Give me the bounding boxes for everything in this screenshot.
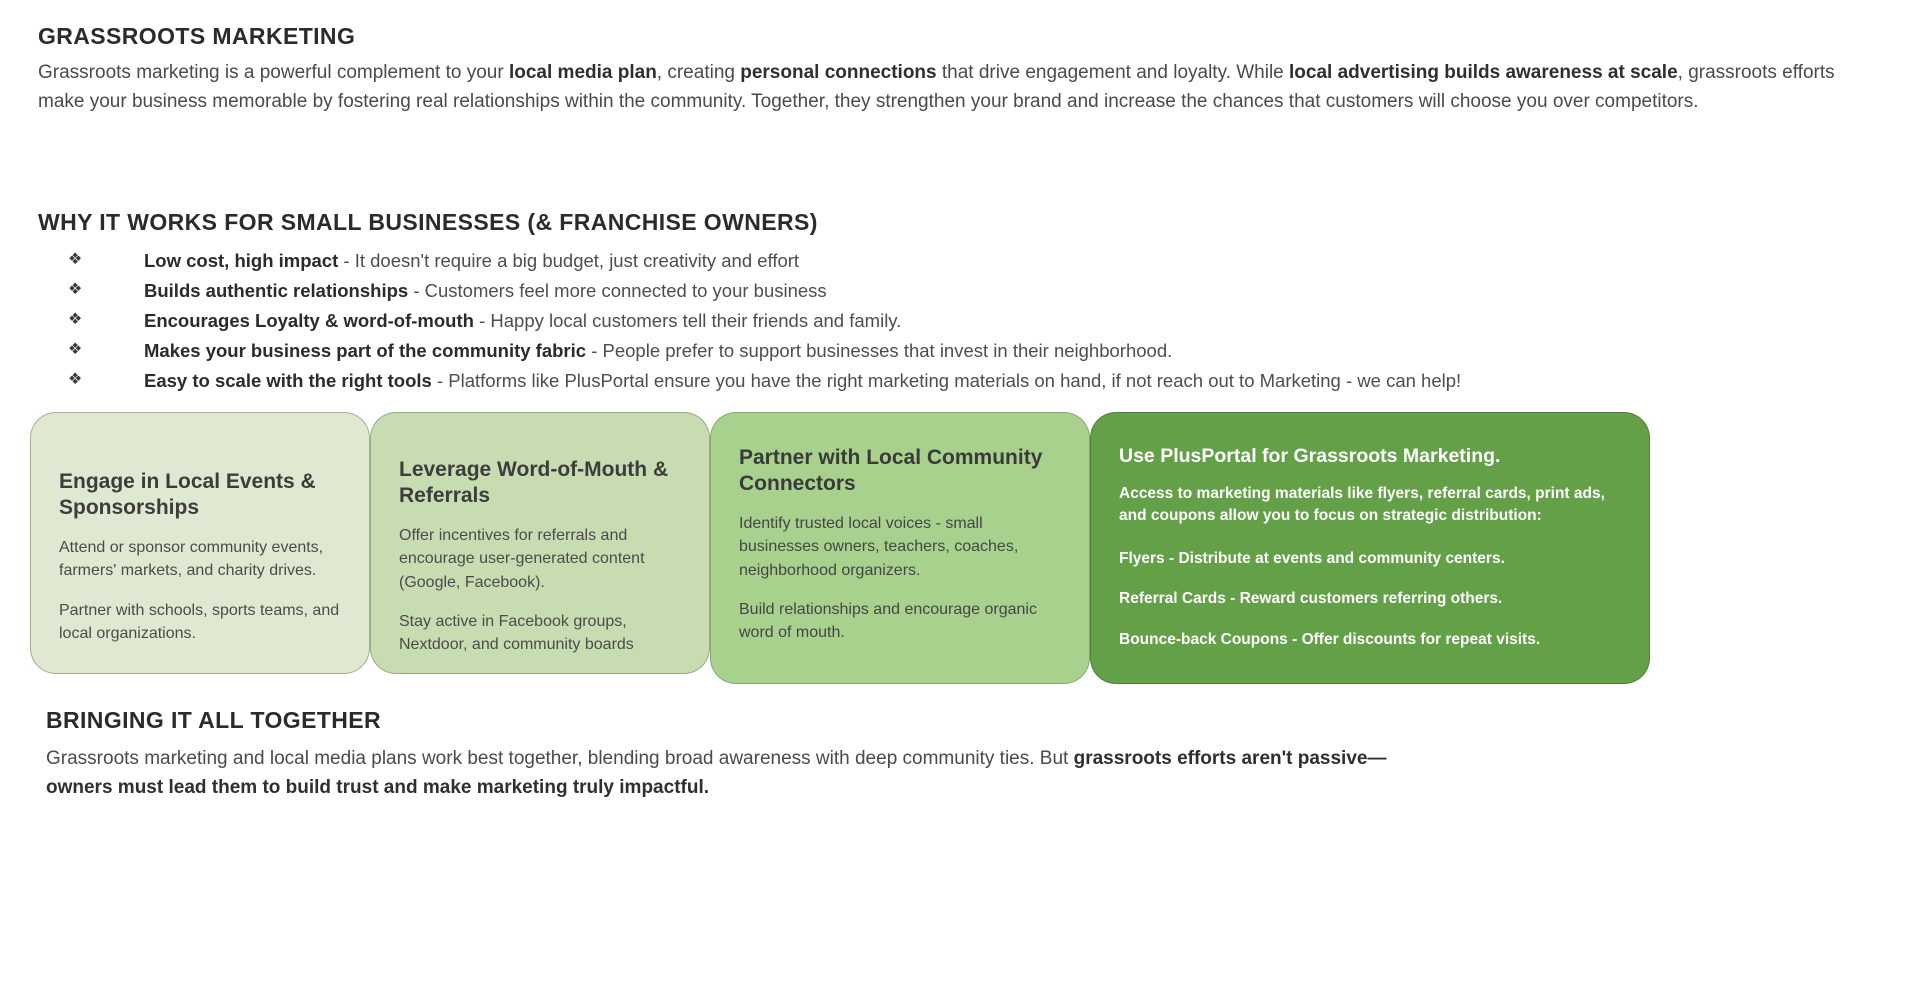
plain-text: Grassroots marketing and local media pla… xyxy=(46,748,1074,769)
diamond-bullet-icon: ❖ xyxy=(68,307,82,333)
bringing-it-together-paragraph: Grassroots marketing and local media pla… xyxy=(46,745,1446,803)
card-paragraph: Attend or sponsor community events, farm… xyxy=(59,536,341,582)
diamond-bullet-icon: ❖ xyxy=(68,277,82,303)
list-item: ❖Low cost, high impact - It doesn't requ… xyxy=(38,247,1848,275)
card-paragraph: Identify trusted local voices - small bu… xyxy=(739,512,1061,582)
card-use-plusportal[interactable]: Use PlusPortal for Grassroots Marketing.… xyxy=(1090,412,1650,684)
card-paragraph: Stay active in Facebook groups, Nextdoor… xyxy=(399,610,681,656)
card-paragraph: Offer incentives for referrals and encou… xyxy=(399,524,681,594)
card-item-bounce-back-coupons: Bounce-back Coupons - Offer discounts fo… xyxy=(1119,629,1621,651)
list-item-lead: Encourages Loyalty & word-of-mouth xyxy=(144,310,474,331)
emphasis-text: local advertising builds awareness at sc… xyxy=(1289,62,1678,83)
diamond-bullet-icon: ❖ xyxy=(68,367,82,393)
card-paragraph: Build relationships and encourage organi… xyxy=(739,598,1061,644)
card-title: Partner with Local Community Connectors xyxy=(739,439,1061,496)
emphasis-text: personal connections xyxy=(740,62,936,83)
card-title: Engage in Local Events & Sponsorships xyxy=(59,439,341,520)
bringing-it-together-heading: BRINGING IT ALL TOGETHER xyxy=(46,706,1806,735)
list-item: ❖Makes your business part of the communi… xyxy=(38,337,1848,365)
card-lead-text: Access to marketing materials like flyer… xyxy=(1119,483,1621,528)
list-item-detail: - Customers feel more connected to your … xyxy=(408,280,827,301)
card-paragraph: Partner with schools, sports teams, and … xyxy=(59,599,341,645)
list-item-detail: - It doesn't require a big budget, just … xyxy=(338,250,799,271)
plain-text: , creating xyxy=(657,62,740,83)
tactics-card-row: Engage in Local Events & Sponsorships At… xyxy=(30,412,1890,684)
card-engage-local-events[interactable]: Engage in Local Events & Sponsorships At… xyxy=(30,412,370,674)
list-item-detail: - People prefer to support businesses th… xyxy=(586,340,1172,361)
intro-paragraph: Grassroots marketing is a powerful compl… xyxy=(38,59,1838,117)
page-title: GRASSROOTS MARKETING xyxy=(38,22,1838,51)
why-it-works-list: ❖Low cost, high impact - It doesn't requ… xyxy=(38,247,1848,396)
card-title: Use PlusPortal for Grassroots Marketing. xyxy=(1119,439,1621,469)
diamond-bullet-icon: ❖ xyxy=(68,337,82,363)
plain-text: that drive engagement and loyalty. While xyxy=(937,62,1289,83)
document-page: GRASSROOTS MARKETING Grassroots marketin… xyxy=(0,0,1920,983)
emphasis-text: local media plan xyxy=(509,62,657,83)
list-item-lead: Easy to scale with the right tools xyxy=(144,370,432,391)
card-item-referral-cards: Referral Cards - Reward customers referr… xyxy=(1119,588,1621,610)
card-item-flyers: Flyers - Distribute at events and commun… xyxy=(1119,548,1621,570)
list-item-lead: Builds authentic relationships xyxy=(144,280,408,301)
card-title: Leverage Word-of-Mouth & Referrals xyxy=(399,439,681,508)
list-item: ❖Encourages Loyalty & word-of-mouth - Ha… xyxy=(38,307,1848,335)
list-item-lead: Makes your business part of the communit… xyxy=(144,340,586,361)
list-item: ❖Builds authentic relationships - Custom… xyxy=(38,277,1848,305)
diamond-bullet-icon: ❖ xyxy=(68,247,82,273)
section-bringing-it-all-together: BRINGING IT ALL TOGETHER Grassroots mark… xyxy=(46,706,1806,803)
list-item: ❖Easy to scale with the right tools - Pl… xyxy=(38,367,1848,395)
why-it-works-heading: WHY IT WORKS FOR SMALL BUSINESSES (& FRA… xyxy=(38,208,1848,237)
card-leverage-word-of-mouth[interactable]: Leverage Word-of-Mouth & Referrals Offer… xyxy=(370,412,710,674)
plain-text: Grassroots marketing is a powerful compl… xyxy=(38,62,509,83)
section-why-it-works: WHY IT WORKS FOR SMALL BUSINESSES (& FRA… xyxy=(38,208,1848,397)
card-partner-community-connectors[interactable]: Partner with Local Community Connectors … xyxy=(710,412,1090,684)
list-item-lead: Low cost, high impact xyxy=(144,250,338,271)
list-item-detail: - Platforms like PlusPortal ensure you h… xyxy=(432,370,1461,391)
list-item-detail: - Happy local customers tell their frien… xyxy=(474,310,901,331)
section-grassroots-marketing: GRASSROOTS MARKETING Grassroots marketin… xyxy=(38,22,1838,117)
